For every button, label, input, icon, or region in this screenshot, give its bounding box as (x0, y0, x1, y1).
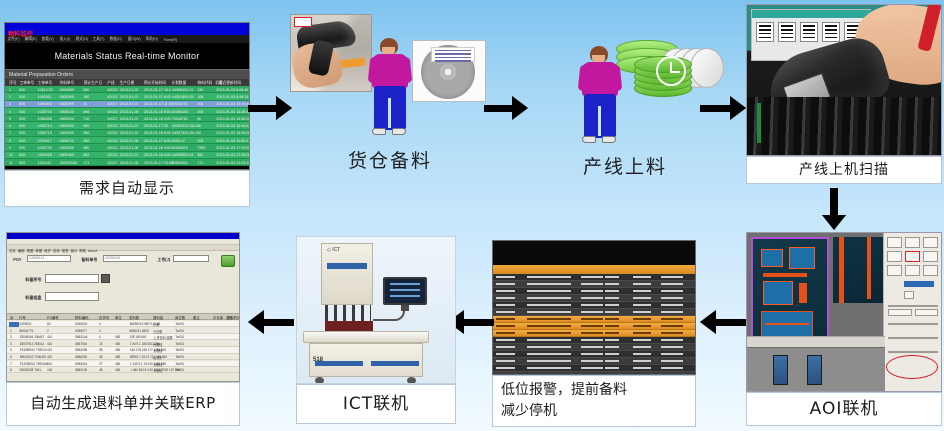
table-row[interactable]: 552010604080605200710420172013-01-072013… (5, 115, 249, 122)
node-low-stock-alarm: 低位报警，提前备料 减少停机 (492, 240, 696, 428)
table-cell: 0606720 (58, 138, 74, 143)
erp-menu-item-9[interactable]: About (88, 249, 97, 253)
erp-field-label-4: 料番组盘 (25, 295, 41, 301)
erp-table-cell: 7 (10, 362, 12, 366)
table-cell: 2013-01-03 17:28:38 (215, 152, 250, 157)
table-cell: 080 (81, 87, 89, 92)
table-cell: 70043781 (170, 116, 188, 121)
section-label: Material Preparation Orders (5, 69, 249, 79)
node-ict: ◇ ICT 518 ICT联机 (296, 236, 456, 428)
menu-item-4[interactable]: 格式(O) (75, 36, 87, 42)
erp-table-row[interactable]: 2B60347752826507748850011 8625已记账Tw001 (7, 328, 240, 334)
table-cell: 42013 (106, 87, 118, 92)
menu-item-9[interactable]: Form(R) (164, 37, 177, 42)
erp-menu-item-1[interactable]: 编辑 (18, 248, 25, 253)
table-cell: 500 (17, 145, 25, 150)
node-warehouse-pick: 货仓备料 (290, 14, 490, 194)
erp-window[interactable]: 文件编辑视图单据维护查询报表窗口帮助About PO#14500013备料单号2… (6, 232, 240, 382)
erp-input-1[interactable]: 20030100 (103, 255, 147, 262)
table-cell: 0605100 (58, 109, 74, 114)
table-cell: 2013-01-03 21:03:16 (215, 160, 250, 165)
aoi-control-panel[interactable] (883, 233, 941, 392)
table-row[interactable]: 950010027230605200980420132013-01-082013… (5, 144, 249, 151)
erp-table-cell: 4 (99, 322, 101, 326)
table-cell: 562 (195, 152, 203, 157)
erp-input-0[interactable]: 14500013 (27, 255, 71, 262)
table-cell: 70043701 (170, 101, 188, 106)
table-cell: 2013-01-03 (118, 87, 139, 92)
alarm-row[interactable] (493, 302, 695, 309)
window-title-bar: 物料监控 (5, 23, 249, 35)
erp-table-cell: 410 (47, 362, 52, 366)
table-cell: 1070617 (36, 138, 52, 143)
menu-item-6[interactable]: 数据(D) (110, 36, 122, 42)
aoi-status-bar (747, 336, 885, 347)
table-cell: 8 (7, 138, 11, 143)
table-row[interactable]: 1050010602280605480562420132013-01-07201… (5, 152, 249, 159)
erp-table-cell: P13089012 7930C0 (20, 348, 47, 352)
erp-table-cell: 80 (47, 322, 50, 326)
erp-table-cell: 大物线 (153, 342, 162, 347)
table-cell: 2013-01-18 9:00 (142, 152, 171, 157)
erp-table-cell: 大物线 (153, 348, 162, 353)
erp-table-row[interactable]: 5P13089012 7930C0410885428698480146 178 … (7, 347, 240, 353)
table-cell: 42013 (106, 94, 118, 99)
barcode-label-icon (339, 57, 366, 68)
table-cell: 9 (7, 145, 11, 150)
table-cell: 520 (17, 116, 25, 121)
erp-table-cell: 480 (115, 362, 120, 366)
green-coin-stack-icon (616, 40, 698, 112)
table-cell: 2013-01-08 (118, 160, 139, 165)
erp-table-row[interactable]: 8S0052038 78411408863106484801 480 840 8… (7, 367, 240, 373)
table-cell: 44307403-06-1 (170, 130, 197, 135)
erp-table-cell: Tw001 (175, 342, 184, 346)
table-row[interactable]: 852010706170606720480420132013-01-082013… (5, 137, 249, 144)
table-cell: 4 (7, 109, 11, 114)
alarm-row[interactable] (493, 344, 695, 351)
erp-input-4[interactable] (45, 292, 99, 301)
process-flow-diagram: 物料监控 文件(F)编辑(E)查看(V)插入(I)格式(O)工具(T)数据(D)… (0, 0, 944, 431)
erp-menu-item-0[interactable]: 文件 (9, 248, 16, 253)
erp-table-cell: 27 (99, 362, 102, 366)
erp-column-header: 物料编码 (75, 315, 89, 320)
table-cell: 498 (81, 109, 89, 114)
arrow-linefeed-to-linescan (700, 96, 746, 120)
table-cell: 171 (81, 160, 89, 165)
caption-demand-monitor: 需求自动显示 (4, 170, 250, 207)
caption-low-stock-alarm: 低位报警，提前备料 减少停机 (492, 375, 696, 427)
column-header: 序号 (7, 80, 16, 86)
erp-field-label-0: PO# (13, 257, 21, 262)
erp-column-header: 序 (10, 315, 13, 320)
erp-column-header: 库位数 (175, 315, 185, 320)
table-cell: 980 (81, 145, 89, 150)
table-cell: 400 (195, 101, 203, 106)
erp-table-cell: B6034775 (19, 329, 33, 333)
caption-line-scan: 产线上机扫描 (746, 156, 942, 184)
table-cell: 2013-01-03 15:19:46 (215, 101, 250, 106)
menu-item-5[interactable]: 工具(T) (93, 36, 105, 42)
table-cell: 2013-01-07 (118, 152, 139, 157)
erp-table-cell: 大物线 (153, 362, 162, 367)
erp-table-cell: 48 (99, 355, 102, 359)
erp-table-cell: 8854286 (75, 348, 87, 352)
table-cell: 562 (81, 152, 89, 157)
table-cell: 2013-01-03 10:50:14 (215, 138, 250, 143)
alarm-row-highlighted[interactable] (493, 316, 695, 323)
table-header-row: 序号工单单号工单单号供料单号预计生产日产线生产日期预计开始时间计划数量物料代码机… (5, 79, 249, 86)
alarm-row[interactable] (493, 288, 695, 295)
caption-warehouse-pick: 货仓备料 (290, 146, 490, 173)
erp-input-2[interactable] (173, 255, 209, 262)
erp-table-cell: 8856284 (75, 355, 87, 359)
ict-machine-photo: ◇ ICT 518 (296, 236, 456, 384)
table-cell: 1060408 (36, 116, 52, 121)
erp-field-label-2: 工号(J) (157, 257, 170, 263)
alarm-row[interactable] (493, 281, 695, 288)
table-cell: 1061C3C (36, 87, 53, 92)
table-cell: 0604490 (58, 123, 74, 128)
table-cell: 2013-01-07 (118, 116, 139, 121)
table-cell: 2013-01-03 8:48:14 (214, 94, 248, 99)
node-demand-monitor: 物料监控 文件(F)编辑(E)查看(V)插入(I)格式(O)工具(T)数据(D)… (4, 22, 250, 207)
line-scan-photo (746, 4, 942, 156)
table-cell: 500 (17, 123, 25, 128)
caption-ict: ICT联机 (296, 384, 456, 424)
erp-grid-header: 序行号PO编号物料编码存货号单位发料数退料量库位数备注中仓库发料时间状态 (7, 313, 240, 320)
table-cell: 98 (195, 130, 201, 135)
column-header: 供料单号 (58, 80, 75, 86)
erp-table-cell: S0052038 7841 (20, 368, 41, 372)
erp-column-header: 发料数 (129, 315, 139, 320)
table-cell: 42013 (106, 152, 118, 157)
alarm-row[interactable] (493, 295, 695, 302)
worker-figure-icon (582, 46, 620, 146)
aoi-carrier-strip (747, 347, 885, 391)
erp-table-cell: 8260004 (75, 322, 87, 326)
erp-table-cell: 6 (10, 355, 12, 359)
arrow-demand-to-warehouse (248, 96, 292, 120)
alarm-table-header[interactable] (493, 265, 695, 274)
menu-item-1[interactable]: 编辑(E) (25, 36, 37, 42)
scanner-photo (290, 14, 372, 92)
erp-table-cell: 410 (47, 348, 52, 352)
menu-item-0[interactable]: 文件(F) (8, 36, 20, 42)
caption-erp-return: 自动生成退料单并关联ERP (6, 382, 240, 426)
table-cell: 0605200 (58, 145, 74, 150)
table-cell: 208 (195, 138, 203, 143)
erp-table-cell: Tw001 (175, 368, 184, 372)
erp-table-row[interactable]: 4Z8037912 7830144108857924154801 54 9 1 … (7, 341, 240, 347)
table-cell: 2013-01-17 00 (142, 123, 168, 128)
table-cell: 2013-01-07 (118, 123, 139, 128)
table-cell: 44306403-01 (170, 87, 194, 92)
alarm-row[interactable] (493, 274, 695, 281)
worker-figure-icon (372, 38, 410, 138)
erp-menu-item-2[interactable]: 视图 (27, 248, 34, 253)
erp-menu-item-6[interactable]: 报表 (62, 248, 69, 253)
erp-table-cell: Z8045064 336A07 (20, 335, 45, 339)
clock-icon (656, 56, 686, 86)
erp-action-button[interactable] (221, 255, 235, 267)
table-cell: 500 (17, 152, 25, 157)
materials-monitor-window: 物料监控 文件(F)编辑(E)查看(V)插入(I)格式(O)工具(T)数据(D)… (4, 22, 250, 170)
erp-input-3[interactable] (45, 274, 99, 283)
alarm-row[interactable] (493, 365, 695, 372)
erp-table-cell: 48 (99, 368, 102, 372)
erp-row-selector[interactable] (9, 322, 19, 327)
table-cell: 42017 (106, 101, 118, 106)
alarm-table[interactable] (492, 240, 696, 375)
erp-table-cell: Tw001 (175, 322, 184, 326)
menu-item-2[interactable]: 查看(V) (42, 36, 54, 42)
alarm-row[interactable] (493, 358, 695, 365)
table-row[interactable]: 750010607150604900980420132013-01-022013… (5, 130, 249, 137)
table-cell: 98 (195, 123, 201, 128)
erp-table-cell: Tw001 (175, 329, 184, 333)
materials-table[interactable]: 序号工单单号工单单号供料单号预计生产日产线生产日期预计开始时间计划数量物料代码机… (5, 79, 249, 166)
erp-table-cell: 4 (99, 335, 101, 339)
table-cell: 2013-01-07 (118, 94, 139, 99)
table-cell: 500 (17, 94, 25, 99)
node-line-scan: 产线上机扫描 (746, 4, 942, 186)
ict-brand-label: ◇ ICT (327, 247, 340, 253)
menu-item-7[interactable]: 窗口(W) (128, 36, 141, 42)
erp-table-cell: 3 (10, 335, 12, 339)
table-cell: 1511047 (36, 160, 52, 165)
table-cell: 1025715 (36, 109, 52, 114)
erp-table-cell: 8863106 (75, 368, 87, 372)
column-header: 最近更新时间 (217, 80, 241, 86)
erp-table-cell: Z8037912 783014 (20, 342, 45, 346)
table-cell: 2013-01-18 9:00 (142, 145, 171, 150)
erp-table-cell: 小明 (153, 322, 159, 327)
table-cell: 10 (7, 152, 13, 157)
erp-column-header: 单位 (115, 315, 122, 320)
table-cell: 980 (81, 123, 89, 128)
column-header: 物料代码 (196, 80, 213, 86)
erp-table-cell: 140 (47, 368, 52, 372)
table-cell: 44304910-06-1 (170, 123, 197, 128)
table-cell: 2013-01-08 (118, 109, 139, 114)
erp-table-cell: 上货包料 结算 (154, 335, 173, 340)
highlight-ellipse (886, 355, 938, 379)
red-tag-icon (294, 17, 312, 27)
table-cell: 190 (195, 87, 203, 92)
erp-menu-item-4[interactable]: 维护 (44, 248, 51, 253)
table-cell: 80350419 (170, 145, 188, 150)
menu-item-8[interactable]: 帮助(H) (146, 36, 158, 42)
table-cell: 1 (7, 87, 11, 92)
table-cell: 11 (7, 160, 13, 165)
erp-table-cell: 私同步 (153, 355, 162, 360)
table-cell: 2 (7, 94, 11, 99)
column-header: 产线 (105, 80, 114, 86)
table-cell: 2013-01-18 9:00 (142, 116, 171, 121)
table-cell: 0605480 (58, 152, 74, 157)
table-cell: 98 (195, 116, 201, 121)
machine-number-label: 518 (313, 357, 323, 363)
erp-lookup-button[interactable] (101, 274, 110, 283)
table-cell: 44308503-01 (170, 152, 194, 157)
pcb-rack (747, 97, 942, 156)
erp-column-header: 存货号 (99, 315, 109, 320)
erp-menu-item-8[interactable]: 帮助 (79, 248, 86, 253)
column-header: 计划数量 (170, 80, 187, 86)
ict-monitor-icon (383, 277, 427, 305)
column-header: 预计开始时间 (142, 80, 166, 86)
table-row[interactable]: 450010257150605100498420132013-01-082013… (5, 108, 249, 115)
table-cell: 2013-01-19 8:00 (142, 130, 171, 135)
table-cell: 2013-01-07 (118, 101, 139, 106)
erp-table-cell: Tw001 (175, 348, 184, 352)
pcb-board-icon (751, 237, 829, 349)
erp-table-cell: 480 (115, 355, 120, 359)
erp-table-cell: 大物线 (153, 368, 162, 373)
erp-table-cell: 8954244 (75, 362, 87, 366)
erp-table-cell: 480 (115, 342, 120, 346)
table-cell: 520 (17, 87, 25, 92)
table-cell: 480 (81, 138, 89, 143)
aoi-screen (746, 232, 942, 392)
table-row[interactable]: 15201061C3C0604699080420132013-01-032013… (5, 86, 249, 93)
table-cell: 44301809-05 (170, 94, 194, 99)
erp-menu-item-3[interactable]: 单据 (35, 248, 42, 253)
erp-table-cell: 4 (99, 329, 101, 333)
column-header: 工单单号 (18, 80, 35, 86)
erp-table-cell: 4 (10, 342, 12, 346)
erp-table-row[interactable]: 1A259001808260004480850013 980 9 16 48小明… (7, 321, 240, 327)
table-cell: 500 (17, 109, 25, 114)
arrow-linescan-to-aoi (822, 188, 846, 230)
alarm-row[interactable] (493, 309, 695, 316)
erp-table-cell: 已记账 (153, 329, 162, 334)
table-cell: 710 (81, 116, 89, 121)
table-cell: 42013 (106, 138, 118, 143)
erp-table-cell: 8265077 (75, 329, 87, 333)
erp-column-header: 中仓库 (213, 315, 223, 320)
erp-menu-item-5[interactable]: 查询 (53, 248, 60, 253)
table-cell: 2013-01-03 15:26:47 (215, 109, 250, 114)
table-cell: 10 (81, 101, 87, 106)
table-cell: 520 (17, 138, 25, 143)
arrow-ict-to-erp (248, 310, 294, 334)
erp-table-cell: P12096012 7893A00 (20, 362, 48, 366)
erp-table-row[interactable]: 3Z8045064 336A0741088631A44480138 189 84… (7, 334, 240, 340)
table-cell: 7 (7, 130, 11, 135)
table-cell: 0605299 (58, 101, 74, 106)
table-cell: 108 (195, 94, 203, 99)
erp-table-cell: B9042062 7036400 (20, 355, 46, 359)
node-erp-return: 文件编辑视图单据维护查询报表窗口帮助About PO#14500013备料单号2… (6, 232, 240, 428)
erp-table-cell: 8857924 (75, 342, 87, 346)
erp-table-cell: 8850011 8625 (130, 329, 149, 333)
table-cell: 42013 (106, 145, 118, 150)
table-cell: 2013-01-03 16:45:44 (215, 123, 250, 128)
table-cell: 2013-01-03 15:50:26 (215, 116, 250, 121)
table-cell: 0605390 (58, 94, 74, 99)
table-cell: 980 (81, 130, 89, 135)
table-cell: 1060228 (36, 152, 52, 157)
table-cell: 2013-01-08 (118, 145, 139, 150)
table-cell: 1002723 (36, 145, 52, 150)
menu-bar[interactable]: 文件(F)编辑(E)查看(V)插入(I)格式(O)工具(T)数据(D)窗口(W)… (5, 35, 249, 43)
table-cell: 1060611 (36, 94, 52, 99)
table-cell: 2013-01-17 8:00 (142, 94, 171, 99)
table-cell: 80360463 (170, 109, 188, 114)
erp-column-header: 状态 (226, 315, 233, 320)
erp-table-row[interactable]: 6B9042062 703640041088562844848089562 1 … (7, 354, 240, 360)
table-cell: 2013-01-17 11:00 (142, 101, 173, 106)
table-cell: 1060715 (36, 130, 52, 135)
erp-table-cell: Tw001 (175, 355, 184, 359)
table-row[interactable]: 1150015110472609234M171420172013-01-0820… (5, 159, 249, 166)
table-cell: 2013-01-03 8:06:48 (214, 87, 248, 92)
erp-table-cell: 98 (99, 348, 102, 352)
table-cell: 42013 (106, 109, 118, 114)
erp-table-cell: 5 (10, 348, 12, 352)
table-cell: 3 (7, 101, 11, 106)
erp-menu-item-7[interactable]: 窗口 (70, 248, 77, 253)
table-cell: 5 (7, 116, 11, 121)
table-row[interactable]: 650010627140604490980420132013-01-072013… (5, 122, 249, 129)
erp-table-cell: 410 (47, 355, 52, 359)
alarm-row[interactable] (493, 337, 695, 344)
erp-table-row[interactable]: 7P12096012 7893A004108954244274801 140 9… (7, 361, 240, 367)
table-cell: 2013-01-17 10:0 (142, 87, 171, 92)
arrow-aoi-to-alarm (700, 310, 746, 334)
table-row[interactable]: 250010606110605390180420132013-01-072013… (5, 93, 249, 100)
table-cell: 2013-01-19 8:00 (142, 109, 171, 114)
table-row[interactable]: 35201069400060529910420172013-01-072013-… (5, 101, 249, 108)
table-cell: 171 (195, 160, 203, 165)
erp-table-cell: Tw001 (175, 335, 184, 339)
table-cell: 42017 (106, 116, 118, 121)
table-cell: 500 (17, 160, 25, 165)
alarm-row-highlighted[interactable] (493, 323, 695, 330)
table-cell: 4633-1C (170, 138, 186, 143)
erp-table-cell: 480 (115, 335, 120, 339)
table-cell: 2013-01-03 17:15:55 (215, 145, 250, 150)
column-header: 预计生产日 (82, 80, 102, 86)
table-cell: 208 (195, 109, 203, 114)
table-cell: 2013-01-17 8:00 (142, 138, 171, 143)
column-header: 生产日期 (118, 80, 135, 86)
table-cell: 42017 (106, 160, 118, 165)
table-cell: 42013 (106, 130, 118, 135)
table-cell: 7500 (195, 145, 205, 150)
table-cell: 80800001 (170, 160, 188, 165)
erp-column-header: PO编号 (47, 315, 59, 320)
erp-column-header: 备注 (193, 315, 200, 320)
alarm-row-highlighted[interactable] (493, 330, 695, 337)
menu-item-3[interactable]: 插入(I) (59, 36, 70, 42)
table-cell: 0604900 (58, 130, 74, 135)
table-cell: 2609234M (58, 160, 77, 165)
table-cell: 2013-01-08 (118, 138, 139, 143)
table-cell: 0604699 (58, 87, 74, 92)
erp-table-cell: 15 (99, 342, 102, 346)
erp-table-cell: 480 (115, 368, 120, 372)
erp-table-cell: A259001 (19, 322, 31, 326)
alarm-row[interactable] (493, 351, 695, 358)
erp-table-cell: 88631A4 (75, 335, 87, 339)
erp-table-cell: 2 (10, 329, 12, 333)
table-cell: 1069400 (36, 101, 52, 106)
erp-column-header: 行号 (19, 315, 26, 320)
erp-field-label-1: 备料单号 (81, 257, 97, 263)
